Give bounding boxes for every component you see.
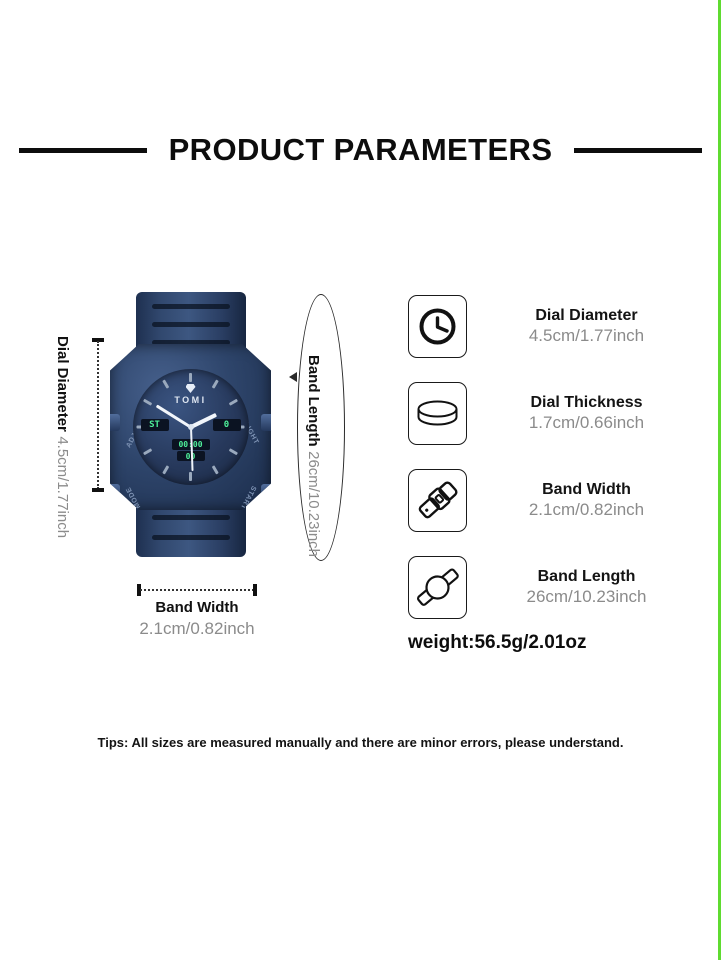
spec-name: Dial Diameter — [485, 306, 688, 326]
watch-pusher-light — [261, 414, 275, 431]
band-width-measure-line — [137, 584, 257, 596]
dial-diameter-name: Dial Diameter — [54, 336, 71, 432]
dial-diameter-label: Dial Diameter 4.5cm/1.77inch — [52, 336, 72, 538]
band-length-name: Band Length — [305, 355, 322, 447]
watch-pusher-mode — [106, 484, 120, 501]
spec-row-dial-thickness: Dial Thickness 1.7cm/0.66inch — [408, 370, 688, 457]
band-width-label: Band Width 2.1cm/0.82inch — [97, 598, 297, 640]
measure-stem — [140, 589, 254, 591]
measure-cap-right — [253, 584, 257, 596]
spec-name: Band Width — [485, 480, 688, 500]
spec-value: 26cm/10.23inch — [485, 587, 688, 608]
spec-value: 2.1cm/0.82inch — [485, 500, 688, 521]
spec-value: 4.5cm/1.77inch — [485, 326, 688, 347]
dial-diameter-value: 4.5cm/1.77inch — [54, 436, 71, 538]
measure-cap-bottom — [92, 488, 104, 492]
watch-photo: ADJUST MODE LIGHT START TOMI ST 0 00:00 … — [108, 292, 273, 557]
band-slot — [152, 304, 230, 309]
title-rule-left — [19, 148, 147, 153]
watch-pusher-adjust — [106, 414, 120, 431]
tomi-logo-icon — [186, 384, 196, 393]
measure-stem — [97, 341, 99, 489]
band-length-label: Band Length 26cm/10.23inch — [303, 355, 323, 557]
band-slot — [152, 535, 230, 540]
spec-row-band-length: Band Length 26cm/10.23inch — [408, 544, 688, 631]
band-length-arrow-icon — [289, 372, 297, 382]
band-width-value: 2.1cm/0.82inch — [97, 618, 297, 640]
lcd-right: 0 — [213, 419, 241, 431]
band-width-name: Band Width — [97, 598, 297, 618]
puck-icon — [408, 382, 467, 445]
watch-band-icon — [408, 556, 467, 619]
band-slot — [152, 322, 230, 327]
tips-text: Tips: All sizes are measured manually an… — [0, 735, 721, 750]
dial-diameter-measure-line — [92, 338, 104, 492]
button-label-mode: MODE — [125, 486, 142, 510]
watch-case: ADJUST MODE LIGHT START TOMI ST 0 00:00 … — [110, 344, 271, 510]
spec-row-dial-diameter: Dial Diameter 4.5cm/1.77inch — [408, 283, 688, 370]
lcd-left: ST — [141, 419, 169, 431]
title-rule-right — [574, 148, 702, 153]
page-title: PRODUCT PARAMETERS — [169, 132, 553, 168]
watch-brand-name: TOMI — [133, 395, 249, 405]
watch-pusher-start — [261, 484, 275, 501]
watch-dial: TOMI ST 0 00:00 00 — [133, 369, 249, 485]
spec-row-band-width: Band Width 2.1cm/0.82inch — [408, 457, 688, 544]
band-slot — [152, 515, 230, 520]
page-title-block: PRODUCT PARAMETERS — [0, 126, 721, 174]
spec-value: 1.7cm/0.66inch — [485, 413, 688, 434]
button-label-start: START — [239, 484, 257, 510]
weight-text: weight:56.5g/2.01oz — [408, 632, 586, 654]
spec-name: Band Length — [485, 567, 688, 587]
spec-name: Dial Thickness — [485, 393, 688, 413]
clock-icon — [408, 295, 467, 358]
hands-pin — [188, 424, 194, 430]
band-length-value: 26cm/10.23inch — [305, 451, 322, 557]
strap-buckle-icon — [408, 469, 467, 532]
spec-list: Dial Diameter 4.5cm/1.77inch Dial Thickn… — [408, 283, 688, 631]
